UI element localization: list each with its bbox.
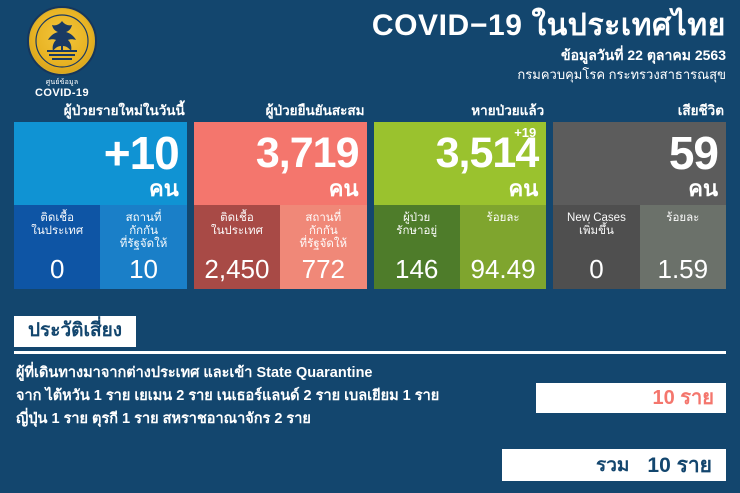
stat-card-value: 3,514 [436, 130, 539, 176]
stat-subcell-local[interactable]: ติดเชื้อ ในประเทศ 0 [14, 205, 100, 289]
stat-subcell-value: 146 [395, 255, 438, 283]
stat-card-label: เสียชีวิต [553, 101, 726, 122]
stat-card-value-panel: 59 คน [553, 122, 726, 205]
stat-subcell-active-cases[interactable]: ผู้ป่วย รักษาอยู่ 146 [374, 205, 460, 289]
organization-line: กรมควบคุมโรค กระทรวงสาธารณสุข [372, 65, 726, 84]
stat-subcell-label-line1: ร้อยละ [666, 212, 699, 225]
stat-subcell-label-line1: ผู้ป่วย [403, 212, 430, 225]
stat-subcell-percent[interactable]: ร้อยละ 94.49 [460, 205, 546, 289]
logo-caption-thai: ศูนย์ข้อมูล [16, 78, 108, 87]
risk-history-body: ผู้ที่เดินทางมาจากต่างประเทศ และเข้า Sta… [16, 362, 556, 431]
risk-history-divider [14, 351, 726, 354]
risk-history-heading: ประวัติเสี่ยง [14, 316, 136, 347]
logo-caption-english: COVID-19 [16, 87, 108, 99]
stat-card-value-panel: 3,719 คน [194, 122, 367, 205]
stat-subcell-label-line3: ที่รัฐจัดให้ [120, 238, 168, 251]
stat-card-cumulative-cases[interactable]: ผู้ป่วยยืนยันสะสม 3,719 คน ติดเชื้อ ในปร… [194, 101, 367, 289]
stat-card-recovered[interactable]: หายป่วยแล้ว +19 3,514 คน ผู้ป่วย รักษาอย… [374, 101, 547, 289]
stat-subcell-label-line2: รักษาอยู่ [396, 225, 437, 238]
stat-card-deaths[interactable]: เสียชีวิต 59 คน New Cases เพิ่มขึ้น 0 ร้… [553, 101, 726, 289]
stat-subcell-percent[interactable]: ร้อยละ 1.59 [640, 205, 726, 289]
garuda-emblem-svg [35, 14, 89, 68]
risk-history-line: ผู้ที่เดินทางมาจากต่างประเทศ และเข้า Sta… [16, 362, 556, 385]
stat-subcell-label-line3: ที่รัฐจัดให้ [300, 238, 348, 251]
stat-card-subcells: New Cases เพิ่มขึ้น 0 ร้อยละ 1.59 [553, 205, 726, 289]
stat-subcell-label-line1: สถานที่ [126, 212, 162, 225]
stat-card-label: หายป่วยแล้ว [374, 101, 547, 122]
stat-card-subcells: ผู้ป่วย รักษาอยู่ 146 ร้อยละ 94.49 [374, 205, 547, 289]
stat-card-value-panel: +10 คน [14, 122, 187, 205]
stat-card-value: +10 [104, 130, 179, 176]
total-bar: รวม 10 ราย [502, 449, 726, 481]
stat-card-value: 59 [669, 130, 718, 176]
stat-subcell-value: 10 [129, 255, 158, 283]
stat-subcell-label-line1: ร้อยละ [487, 212, 520, 225]
stat-subcell-label-line1: สถานที่ [305, 212, 341, 225]
stat-card-new-cases[interactable]: ผู้ป่วยรายใหม่ในวันนี้ +10 คน ติดเชื้อ ใ… [14, 101, 187, 289]
risk-history-count-badge: 10 ราย [536, 383, 726, 413]
stat-cards-row: ผู้ป่วยรายใหม่ในวันนี้ +10 คน ติดเชื้อ ใ… [14, 101, 726, 289]
title-block: COVID−19 ในประเทศไทย ข้อมูลวันที่ 22 ตุล… [372, 8, 726, 84]
stat-card-unit: คน [508, 178, 538, 200]
page-title: COVID−19 ในประเทศไทย [372, 8, 726, 44]
stat-subcell-label-line2: กักกัน [129, 225, 158, 238]
stat-subcell-local[interactable]: ติดเชื้อ ในประเทศ 2,450 [194, 205, 280, 289]
stat-subcell-label-line2: เพิ่มขึ้น [579, 225, 614, 238]
risk-history-line: ญี่ปุ่น 1 ราย ตุรกี 1 ราย สหราชอาณาจักร … [16, 408, 556, 431]
risk-history-line: จาก ไต้หวัน 1 ราย เยเมน 2 ราย เนเธอร์แลน… [16, 385, 556, 408]
stat-card-unit: คน [329, 178, 359, 200]
stat-card-subcells: ติดเชื้อ ในประเทศ 0 สถานที่ กักกัน ที่รั… [14, 205, 187, 289]
stat-subcell-value: 94.49 [471, 255, 536, 283]
stat-subcell-quarantine[interactable]: สถานที่ กักกัน ที่รัฐจัดให้ 772 [280, 205, 366, 289]
total-label: รวม [596, 450, 629, 480]
stat-card-label: ผู้ป่วยรายใหม่ในวันนี้ [14, 101, 187, 122]
garuda-emblem-icon [27, 6, 97, 76]
data-date-line: ข้อมูลวันที่ 22 ตุลาคม 2563 [372, 45, 726, 65]
stat-subcell-value: 0 [50, 255, 64, 283]
stat-card-subcells: ติดเชื้อ ในประเทศ 2,450 สถานที่ กักกัน ท… [194, 205, 367, 289]
stat-subcell-value: 2,450 [204, 255, 269, 283]
stat-subcell-label-line1: ติดเชื้อ [40, 212, 74, 225]
stat-subcell-value: 0 [589, 255, 603, 283]
stat-subcell-label-line2: กักกัน [309, 225, 338, 238]
stat-subcell-label-line2: ในประเทศ [211, 225, 263, 238]
stat-subcell-quarantine[interactable]: สถานที่ กักกัน ที่รัฐจัดให้ 10 [100, 205, 186, 289]
stat-card-unit: คน [688, 178, 718, 200]
stat-card-value: 3,719 [256, 130, 359, 176]
total-value: 10 ราย [647, 449, 712, 482]
stat-subcell-value: 772 [302, 255, 345, 283]
stat-card-label: ผู้ป่วยยืนยันสะสม [194, 101, 367, 122]
stat-subcell-new-deaths[interactable]: New Cases เพิ่มขึ้น 0 [553, 205, 639, 289]
stat-card-unit: คน [149, 178, 179, 200]
page-header: ศูนย์ข้อมูล COVID-19 COVID−19 ในประเทศไท… [0, 0, 740, 100]
stat-card-value-panel: +19 3,514 คน [374, 122, 547, 205]
stat-subcell-label-line2: ในประเทศ [31, 225, 83, 238]
stat-subcell-value: 1.59 [658, 255, 709, 283]
stat-subcell-label-line1: New Cases [567, 212, 626, 225]
stat-subcell-label-line1: ติดเชื้อ [220, 212, 254, 225]
logo-block: ศูนย์ข้อมูล COVID-19 [16, 6, 108, 99]
